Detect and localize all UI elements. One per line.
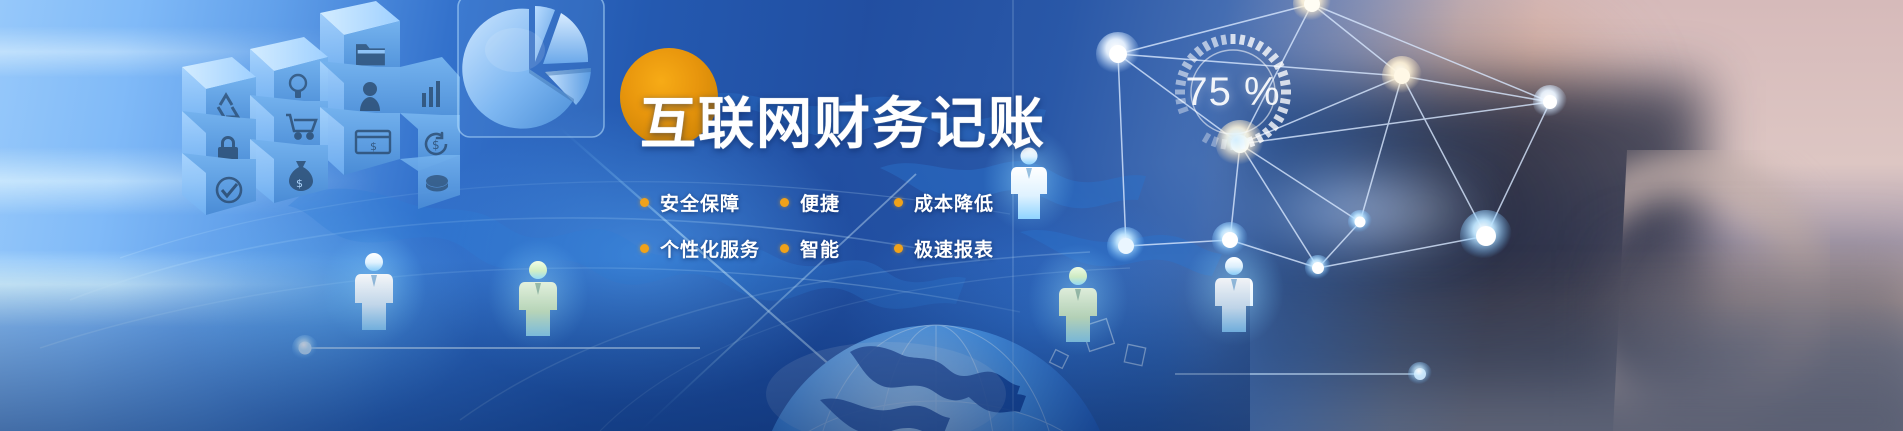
feature-item-convenient[interactable]: 便捷 [780,189,894,216]
progress-gauge-75: 75 % [1168,34,1298,154]
bokeh-mug-body [1620,250,1903,431]
bullet-dot-icon [780,244,789,253]
person-silhouette-1 [322,230,426,346]
feature-label: 安全保障 [660,189,740,216]
pie-card-frame [458,0,604,137]
page-title: 互联网财务记账 [640,96,1046,152]
feature-list: 安全保障 便捷 成本降低 个性化服务 智能 [640,184,1046,266]
feature-item-cost-reduction[interactable]: 成本降低 [894,189,994,216]
bottom-vignette [0,261,1250,431]
glow-far-left [120,150,540,431]
feature-item-intelligent[interactable]: 智能 [780,235,894,262]
cube-tile-lock [182,111,256,173]
feature-row-1: 安全保障 便捷 成本降低 [640,184,1046,220]
icon-cube-stack: $ $ [170,0,460,230]
gauge-value-label: 75 % [1168,34,1298,154]
bullet-dot-icon [894,198,903,207]
pie-depth [529,68,591,103]
world-globe [756,325,1116,431]
feature-label: 个性化服务 [660,235,760,262]
bottom-rule-right [1175,362,1432,386]
svg-text:$: $ [370,140,377,153]
bullet-dot-icon [640,244,649,253]
bullet-dot-icon [640,198,649,207]
feature-item-fast-reports[interactable]: 极速报表 [894,235,994,262]
bottom-rule-left [292,335,700,361]
floating-squares [1050,319,1146,369]
cube-tile-money-bag: $ [250,139,328,203]
cube-tile-refresh-dollar: $ [400,113,460,171]
feature-label: 智能 [800,235,840,262]
network-graph [1050,0,1630,320]
hero-copy: 互联网财务记账 安全保障 便捷 成本降低 个性化服 [640,96,1046,266]
person-silhouette-5 [1184,234,1284,346]
network-nodes [1096,0,1567,281]
globe-landmass [820,346,1026,431]
bokeh-highlight-blur [1180,150,1510,270]
bokeh-monitor-blur [1235,80,1705,410]
hero-banner: $ $ [0,0,1903,431]
pie-chart-card [455,0,610,142]
feature-label: 极速报表 [914,235,994,262]
cube-tile-credit-card: $ [320,107,400,175]
feature-row-2: 个性化服务 智能 极速报表 [640,230,1046,266]
svg-text:$: $ [296,177,303,190]
svg-text:$: $ [432,138,440,152]
cube-tile-lightbulb [250,37,328,117]
feature-label: 便捷 [800,189,840,216]
cube-tile-money-hand [400,155,460,209]
feature-item-security[interactable]: 安全保障 [640,189,780,216]
cube-tile-shopping-cart [250,95,328,159]
bullet-dot-icon [780,198,789,207]
feature-item-personalized-service[interactable]: 个性化服务 [640,235,780,262]
cube-tile-person [320,61,400,127]
bokeh-desk-shadow [1100,271,1903,431]
feature-label: 成本降低 [914,189,994,216]
cube-tile-bar-chart [400,57,460,129]
pie-slices [462,6,591,129]
bullet-dot-icon [894,244,903,253]
cube-tile-folder [320,1,400,83]
person-silhouette-2 [488,239,588,351]
cube-tile-check-circle [182,153,256,215]
bokeh-mug-handle [1540,150,1830,431]
cube-tile-recycle [182,57,256,133]
